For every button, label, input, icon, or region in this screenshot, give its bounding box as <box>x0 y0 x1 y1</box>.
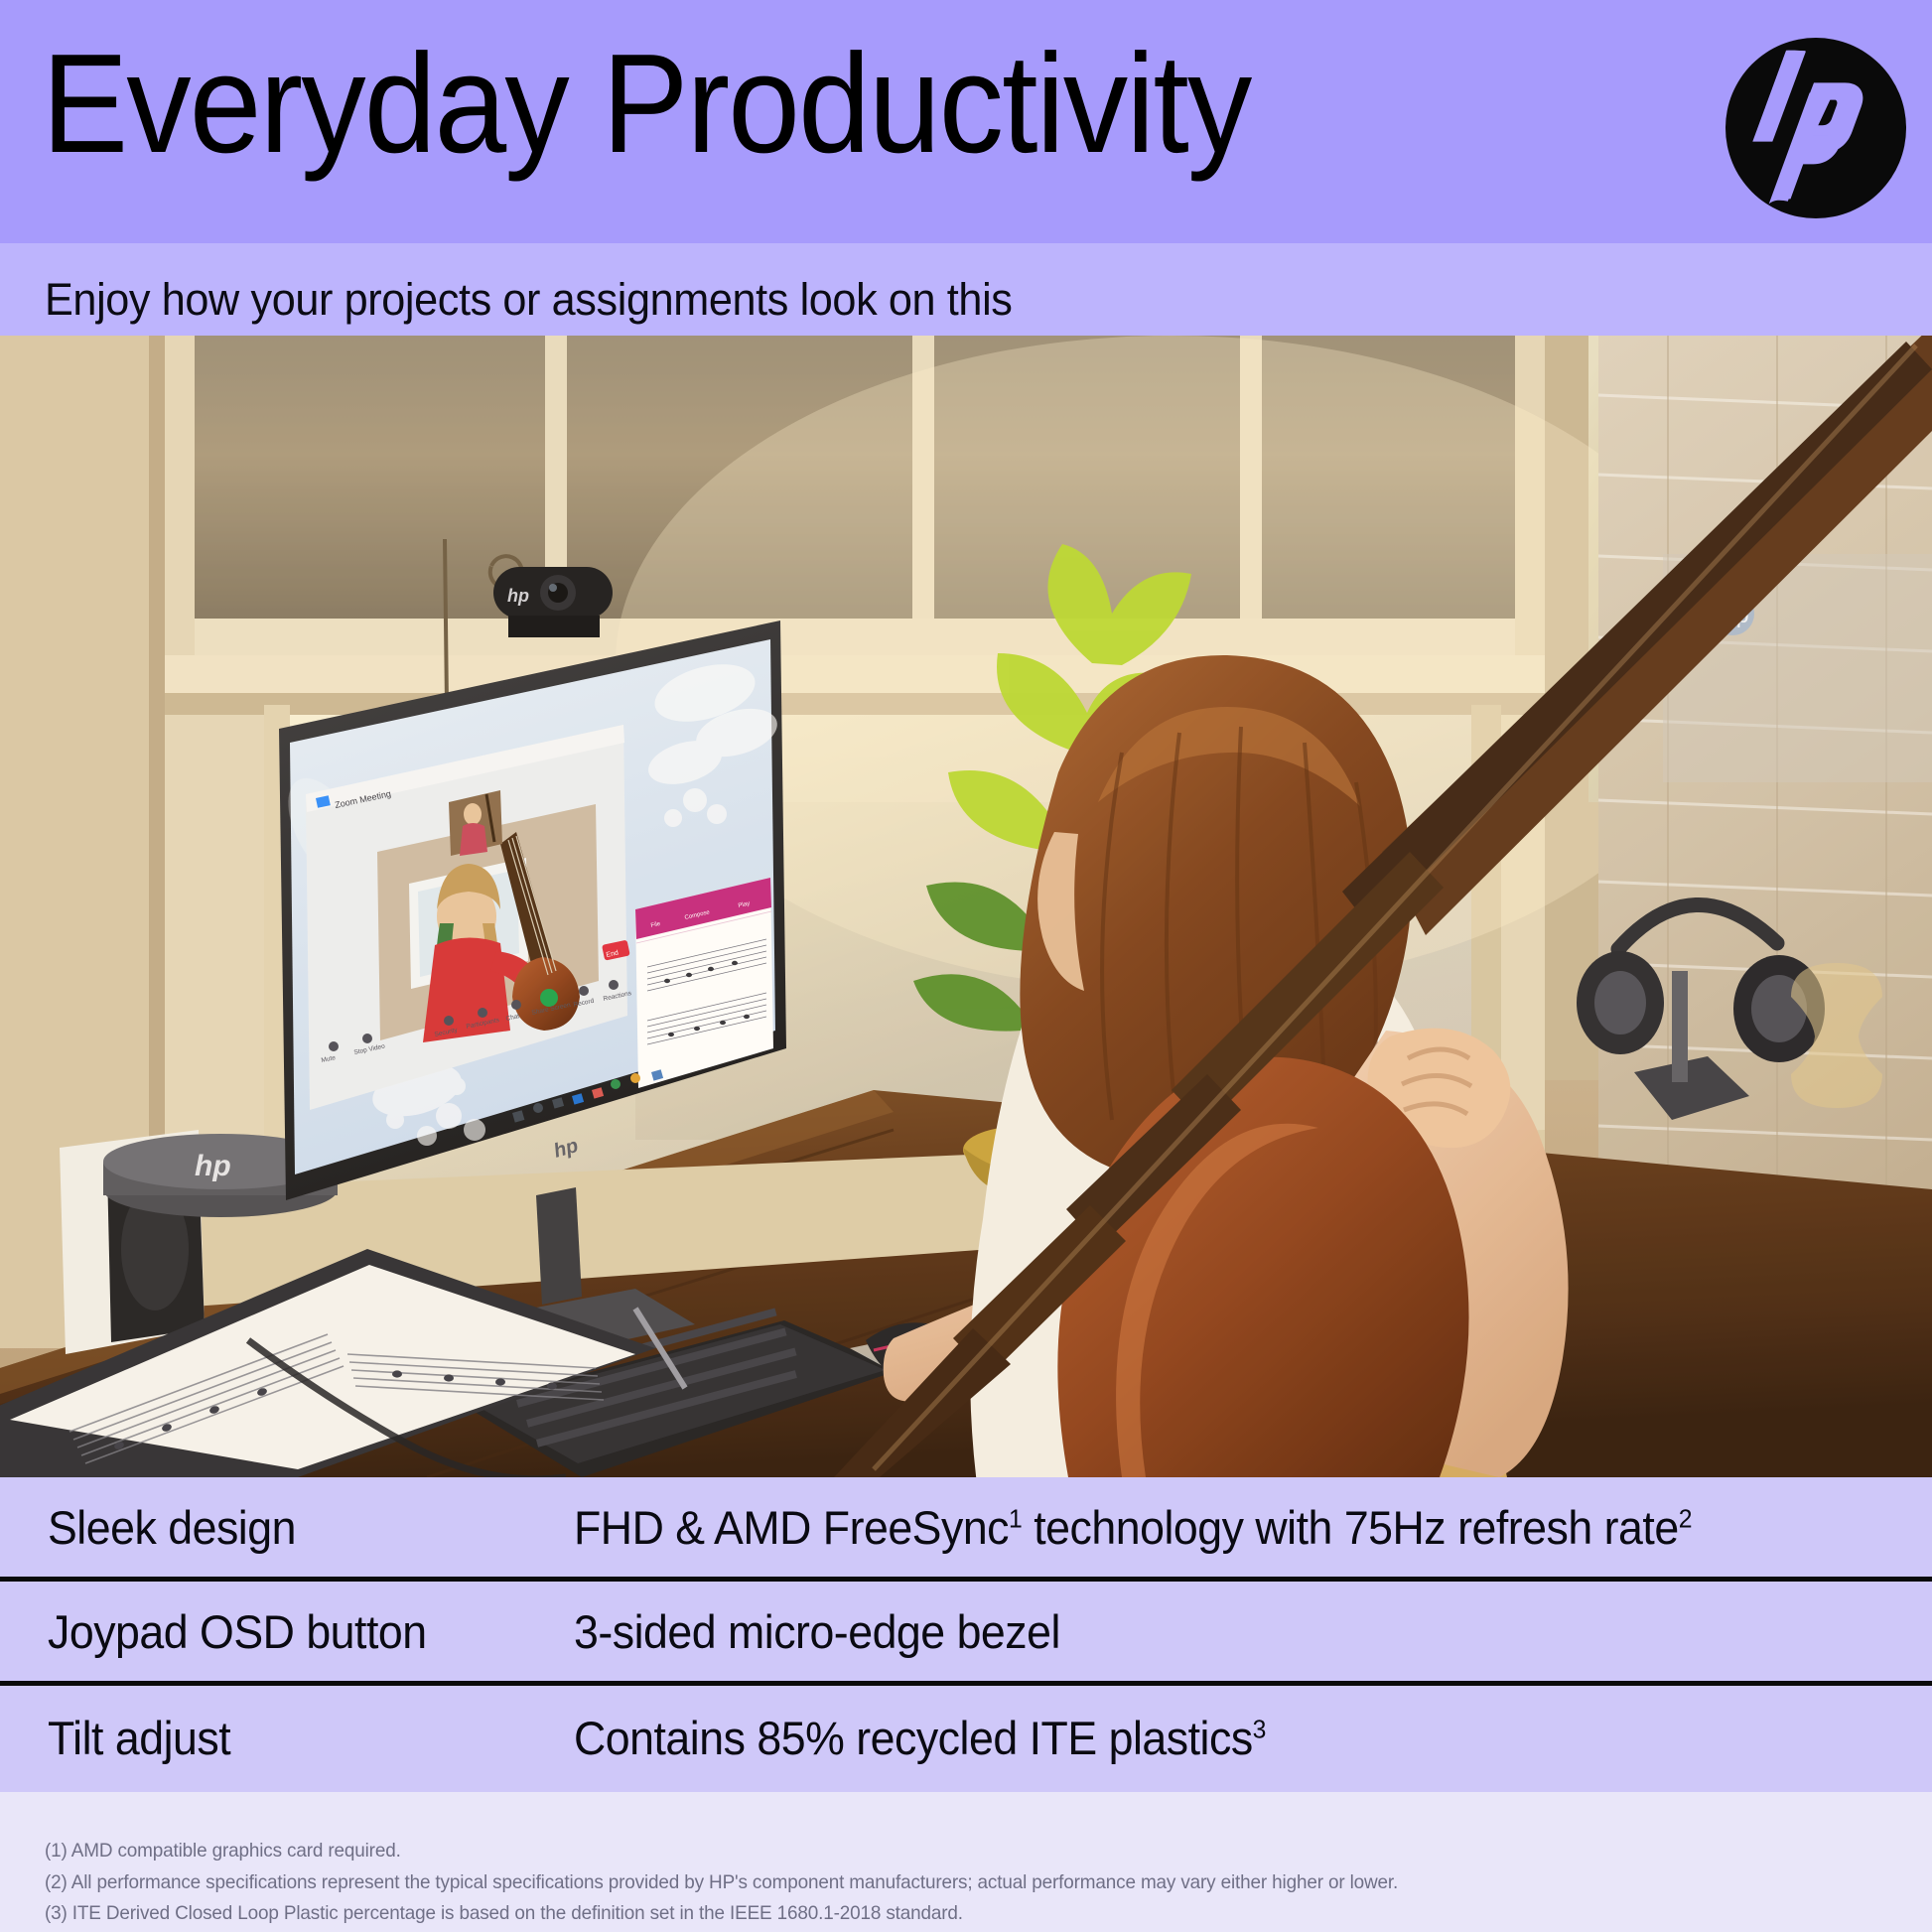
footnote-2: (2) All performance specifications repre… <box>45 1867 1875 1899</box>
product-lifestyle-photo: hp hp <box>0 336 1932 1477</box>
spec-label: Joypad OSD button <box>48 1604 548 1659</box>
header-band: Everyday Productivity <box>0 0 1932 243</box>
footnotes: (1) AMD compatible graphics card require… <box>0 1792 1932 1932</box>
hp-logo-icon <box>1725 38 1906 218</box>
table-row: Sleek design FHD & AMD FreeSync1 technol… <box>0 1477 1932 1582</box>
specs-table: Sleek design FHD & AMD FreeSync1 technol… <box>0 1477 1932 1792</box>
subtitle-line-1: Enjoy how your projects or assignments l… <box>45 274 1013 325</box>
table-row: Joypad OSD button 3-sided micro-edge bez… <box>0 1582 1932 1686</box>
spec-value: 3-sided micro-edge bezel <box>574 1604 1864 1659</box>
footnote-ref: 2 <box>1679 1503 1692 1533</box>
table-row: Tilt adjust Contains 85% recycled ITE pl… <box>0 1686 1932 1790</box>
spec-label: Tilt adjust <box>48 1711 548 1765</box>
footnote-3: (3) ITE Derived Closed Loop Plastic perc… <box>45 1898 1875 1930</box>
footnote-ref: 3 <box>1253 1714 1266 1743</box>
spec-value-tail: technology with 75Hz refresh rate <box>1022 1501 1678 1554</box>
spec-value: FHD & AMD FreeSync1 technology with 75Hz… <box>574 1500 1864 1555</box>
spec-value: Contains 85% recycled ITE plastics3 <box>574 1711 1864 1765</box>
spec-value-text: Contains 85% recycled ITE plastics <box>574 1712 1253 1764</box>
page-title: Everyday Productivity <box>42 34 1250 175</box>
footnote-ref: 1 <box>1009 1503 1022 1533</box>
spec-label: Sleek design <box>48 1500 548 1555</box>
spec-value-text: FHD & AMD FreeSync <box>574 1501 1009 1554</box>
spec-value-text: 3-sided micro-edge bezel <box>574 1605 1060 1658</box>
footnote-1: (1) AMD compatible graphics card require… <box>45 1836 1875 1867</box>
marketing-product-card: Everyday Productivity Enjoy how your pro… <box>0 0 1932 1932</box>
